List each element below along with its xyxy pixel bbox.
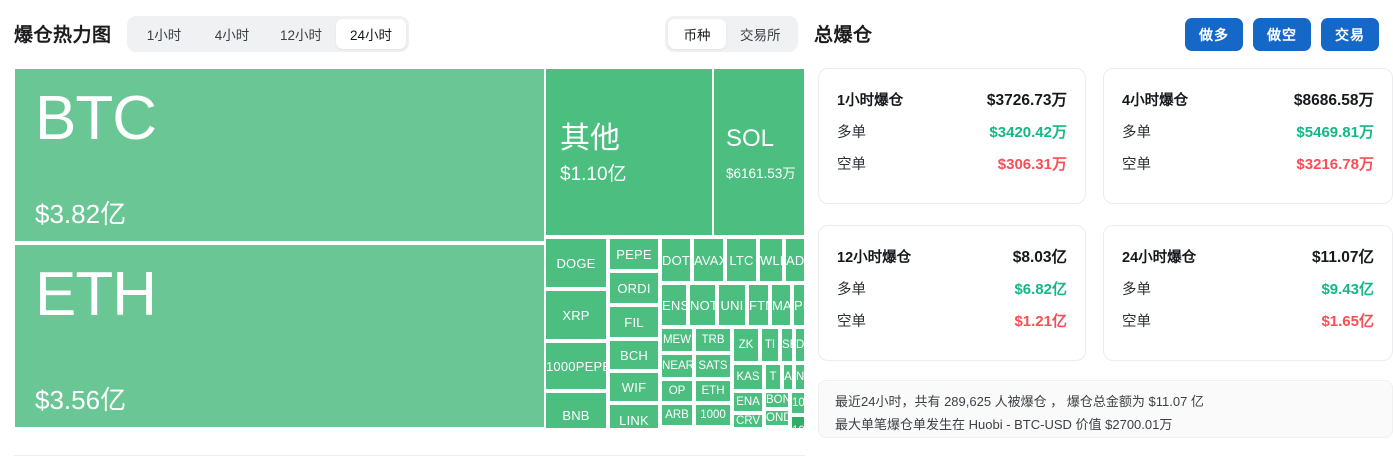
- treemap-tile-value: $3.82亿: [35, 194, 126, 231]
- treemap-tile[interactable]: ENS: [661, 284, 687, 326]
- treemap-tile[interactable]: BCH: [609, 340, 659, 370]
- treemap-tile-symbol: BNB: [562, 408, 589, 423]
- card-total: $8.03亿: [1013, 245, 1067, 267]
- card-row: 空单$1.21亿: [837, 304, 1067, 336]
- treemap-tile-symbol: MAT: [772, 298, 790, 313]
- treemap-tile[interactable]: 1000: [791, 416, 805, 428]
- treemap-tile[interactable]: TRB: [695, 328, 731, 352]
- card-long-value: $5469.81万: [1296, 121, 1374, 142]
- card-title: 24小时爆仓: [1122, 246, 1196, 267]
- card-title: 4小时爆仓: [1122, 89, 1188, 110]
- treemap-tile[interactable]: CRV: [733, 414, 763, 428]
- treemap-tile[interactable]: MAT: [771, 284, 791, 326]
- treemap-tile-symbol: TI: [765, 339, 775, 351]
- treemap-tile[interactable]: LINK: [609, 404, 659, 428]
- card-long-value: $3420.42万: [989, 121, 1067, 142]
- card-short-label: 空单: [1122, 310, 1151, 331]
- treemap-tile[interactable]: ENA: [733, 392, 763, 412]
- treemap-tile-value: $6161.53万: [726, 162, 796, 182]
- treemap-tile-symbol: ZK: [739, 339, 754, 351]
- treemap-tile-symbol: ARB: [665, 409, 689, 421]
- treemap-tile-symbol: 1000: [792, 425, 804, 428]
- card-row: 空单$3216.78万: [1122, 147, 1374, 179]
- treemap-tile-symbol: TRB: [702, 334, 725, 346]
- treemap-tile[interactable]: OP: [661, 380, 693, 402]
- treemap-tile-symbol: ONDO: [766, 412, 788, 424]
- treemap-tile[interactable]: ETH$3.56亿: [14, 244, 545, 428]
- card-row: 空单$1.65亿: [1122, 304, 1374, 336]
- action-button-1[interactable]: 做空: [1253, 18, 1311, 51]
- treemap-tile-symbol: SOL: [726, 125, 774, 153]
- treemap-tile[interactable]: FTM: [748, 284, 769, 326]
- summary-note: 最近24小时，共有 289,625 人被爆仓 ， 爆仓总金额为 $11.07 亿…: [818, 380, 1393, 438]
- section-divider: [14, 455, 805, 456]
- treemap-tile-symbol: ENS: [662, 298, 686, 313]
- treemap-tile[interactable]: XRP: [545, 290, 607, 340]
- treemap-tile[interactable]: T: [765, 364, 781, 390]
- page-header: 爆仓热力图 1小时4小时12小时24小时 币种交易所 总爆仓 做多做空交易: [0, 0, 1393, 68]
- grouping-tab-1[interactable]: 交易所: [726, 19, 795, 49]
- treemap-tile-symbol: NEAR: [662, 360, 692, 372]
- treemap-tile[interactable]: ADA: [785, 238, 805, 282]
- grouping-segmented-control[interactable]: 币种交易所: [665, 16, 798, 52]
- card-long-value: $9.43亿: [1321, 278, 1374, 299]
- card-total: $8686.58万: [1294, 88, 1374, 110]
- liquidation-card: 1小时爆仓$3726.73万多单$3420.42万空单$306.31万: [818, 68, 1086, 204]
- page-title: 爆仓热力图: [14, 20, 112, 47]
- treemap-tile-symbol: DOGE: [556, 256, 595, 271]
- treemap-tile[interactable]: 其他$1.10亿: [545, 68, 713, 236]
- summary-line-1: 最近24小时，共有 289,625 人被爆仓 ， 爆仓总金额为 $11.07 亿: [835, 390, 1376, 413]
- card-row: 多单$9.43亿: [1122, 272, 1374, 304]
- treemap-tile-symbol: A: [784, 371, 792, 383]
- treemap-tile[interactable]: A: [783, 364, 793, 390]
- action-button-2[interactable]: 交易: [1321, 18, 1379, 51]
- card-row: 多单$3420.42万: [837, 115, 1067, 147]
- treemap-tile[interactable]: SATS: [695, 354, 731, 378]
- card-long-label: 多单: [1122, 278, 1151, 299]
- treemap-tile-symbol: ETH: [702, 385, 725, 397]
- treemap-tile-symbol: ENA: [736, 396, 760, 408]
- treemap-tile[interactable]: SOL$6161.53万: [713, 68, 805, 236]
- card-short-value: $306.31万: [998, 153, 1067, 174]
- timeframe-segmented-control[interactable]: 1小时4小时12小时24小时: [127, 16, 409, 52]
- treemap-tile-symbol: FTM: [749, 298, 768, 313]
- treemap-tile[interactable]: DOT: [661, 238, 691, 282]
- treemap-tile-symbol: SATS: [698, 360, 727, 372]
- card-row: 多单$5469.81万: [1122, 115, 1374, 147]
- treemap-tile-symbol: FIL: [624, 315, 643, 330]
- treemap-tile-symbol: ADA: [786, 253, 804, 268]
- card-long-label: 多单: [837, 121, 866, 142]
- treemap-tile-symbol: CRV: [736, 415, 760, 427]
- treemap-tile-symbol: ETH: [35, 259, 156, 330]
- treemap-tile[interactable]: WIF: [609, 372, 659, 402]
- action-button-0[interactable]: 做多: [1185, 18, 1243, 51]
- treemap-tile-value: $1.10亿: [560, 159, 627, 186]
- treemap-tile-symbol: 1000: [792, 397, 804, 409]
- treemap-tile[interactable]: UNI: [718, 284, 746, 326]
- card-short-label: 空单: [837, 153, 866, 174]
- treemap-tile[interactable]: NOT: [689, 284, 716, 326]
- treemap-tile[interactable]: WLD: [759, 238, 783, 282]
- treemap-tile-symbol: LINK: [619, 413, 649, 428]
- treemap-tile-symbol: KAS: [736, 371, 759, 383]
- treemap-tile-symbol: BTC: [35, 83, 156, 154]
- card-short-value: $1.65亿: [1321, 310, 1374, 331]
- treemap-tile-symbol: NOT: [690, 298, 715, 313]
- treemap-tile[interactable]: ARB: [661, 404, 693, 426]
- treemap-tile[interactable]: LTC: [726, 238, 757, 282]
- treemap-tile[interactable]: BONK: [765, 392, 789, 408]
- treemap-tile[interactable]: ONDO: [765, 410, 789, 426]
- card-row: 空单$306.31万: [837, 147, 1067, 179]
- treemap-tile[interactable]: 1000: [695, 404, 731, 426]
- timeframe-tab-1[interactable]: 4小时: [198, 19, 266, 49]
- treemap-tile[interactable]: ETH: [695, 380, 731, 402]
- card-short-value: $1.21亿: [1014, 310, 1067, 331]
- treemap-tile-symbol: BONK: [766, 394, 788, 406]
- treemap-tile-symbol: AVAX: [694, 253, 723, 268]
- treemap-tile-symbol: WLD: [760, 253, 782, 268]
- grouping-tab-0[interactable]: 币种: [668, 19, 726, 49]
- treemap-tile[interactable]: DOGE: [545, 238, 607, 288]
- treemap-tile-symbol: LTC: [729, 253, 753, 268]
- treemap-tile-symbol: OP: [669, 385, 686, 397]
- card-row: 4小时爆仓$8686.58万: [1122, 83, 1374, 115]
- liquidation-treemap[interactable]: BTC$3.82亿ETH$3.56亿其他$1.10亿SOL$6161.53万DO…: [14, 68, 805, 428]
- treemap-tile-symbol: PEO: [794, 298, 804, 313]
- summary-line-2: 最大单笔爆仓单发生在 Huobi - BTC-USD 价值 $2700.01万: [835, 413, 1376, 436]
- treemap-tile[interactable]: ORDI: [609, 272, 659, 304]
- timeframe-tab-3[interactable]: 24小时: [336, 19, 406, 49]
- liquidation-card: 24小时爆仓$11.07亿多单$9.43亿空单$1.65亿: [1103, 225, 1393, 361]
- card-total: $11.07亿: [1312, 245, 1374, 267]
- card-short-label: 空单: [1122, 153, 1151, 174]
- treemap-tile[interactable]: D: [795, 328, 805, 362]
- treemap-tile-symbol: XRP: [562, 308, 589, 323]
- treemap-tile[interactable]: AVAX: [693, 238, 724, 282]
- liquidation-heatmap-page: 爆仓热力图 1小时4小时12小时24小时 币种交易所 总爆仓 做多做空交易 BT…: [0, 0, 1393, 462]
- treemap-tile[interactable]: NEAR: [661, 354, 693, 378]
- card-title: 12小时爆仓: [837, 246, 911, 267]
- card-row: 12小时爆仓$8.03亿: [837, 240, 1067, 272]
- card-short-label: 空单: [837, 310, 866, 331]
- card-total: $3726.73万: [987, 88, 1067, 110]
- treemap-tile[interactable]: BNB: [545, 392, 607, 428]
- treemap-tile-symbol: DOT: [662, 253, 690, 268]
- treemap-tile[interactable]: FIL: [609, 306, 659, 338]
- treemap-tile[interactable]: 1000: [791, 392, 805, 414]
- treemap-tile-symbol: ORDI: [617, 281, 650, 296]
- card-long-label: 多单: [1122, 121, 1151, 142]
- timeframe-tab-2[interactable]: 12小时: [266, 19, 336, 49]
- card-long-label: 多单: [837, 278, 866, 299]
- treemap-tile-symbol: N: [796, 371, 804, 383]
- treemap-tile[interactable]: PEO: [793, 284, 805, 326]
- treemap-tile-symbol: WIF: [622, 380, 646, 395]
- treemap-tile[interactable]: PEPE: [609, 238, 659, 270]
- treemap-tile-symbol: 1000PEPE: [546, 359, 606, 374]
- treemap-tile-symbol: PEPE: [616, 247, 651, 262]
- treemap-tile-symbol: BCH: [620, 348, 648, 363]
- treemap-tile-symbol: MEW: [663, 334, 691, 346]
- treemap-tile[interactable]: BTC$3.82亿: [14, 68, 545, 242]
- treemap-tile-symbol: UNI: [721, 298, 744, 313]
- card-short-value: $3216.78万: [1296, 153, 1374, 174]
- card-row: 24小时爆仓$11.07亿: [1122, 240, 1374, 272]
- card-title: 1小时爆仓: [837, 89, 903, 110]
- card-long-value: $6.82亿: [1014, 278, 1067, 299]
- card-row: 多单$6.82亿: [837, 272, 1067, 304]
- treemap-tile[interactable]: 1000PEPE: [545, 342, 607, 390]
- treemap-tile[interactable]: MEW: [661, 328, 693, 352]
- treemap-tile[interactable]: N: [795, 364, 805, 390]
- liquidation-card: 4小时爆仓$8686.58万多单$5469.81万空单$3216.78万: [1103, 68, 1393, 204]
- treemap-tile[interactable]: TI: [761, 328, 779, 362]
- total-liquidation-title: 总爆仓: [814, 20, 873, 47]
- treemap-tile-symbol: D: [796, 339, 804, 351]
- treemap-tile-symbol: SE: [782, 339, 792, 351]
- treemap-tile-symbol: T: [769, 371, 776, 383]
- card-row: 1小时爆仓$3726.73万: [837, 83, 1067, 115]
- trade-action-buttons: 做多做空交易: [1185, 18, 1379, 51]
- timeframe-tab-0[interactable]: 1小时: [130, 19, 198, 49]
- liquidation-card: 12小时爆仓$8.03亿多单$6.82亿空单$1.21亿: [818, 225, 1086, 361]
- treemap-tile[interactable]: ZK: [733, 328, 759, 362]
- treemap-tile[interactable]: KAS: [733, 364, 763, 390]
- treemap-tile-symbol: 其他: [560, 113, 620, 157]
- treemap-tile[interactable]: SE: [781, 328, 793, 362]
- treemap-tile-symbol: 1000: [700, 409, 726, 421]
- treemap-tile-value: $3.56亿: [35, 380, 126, 417]
